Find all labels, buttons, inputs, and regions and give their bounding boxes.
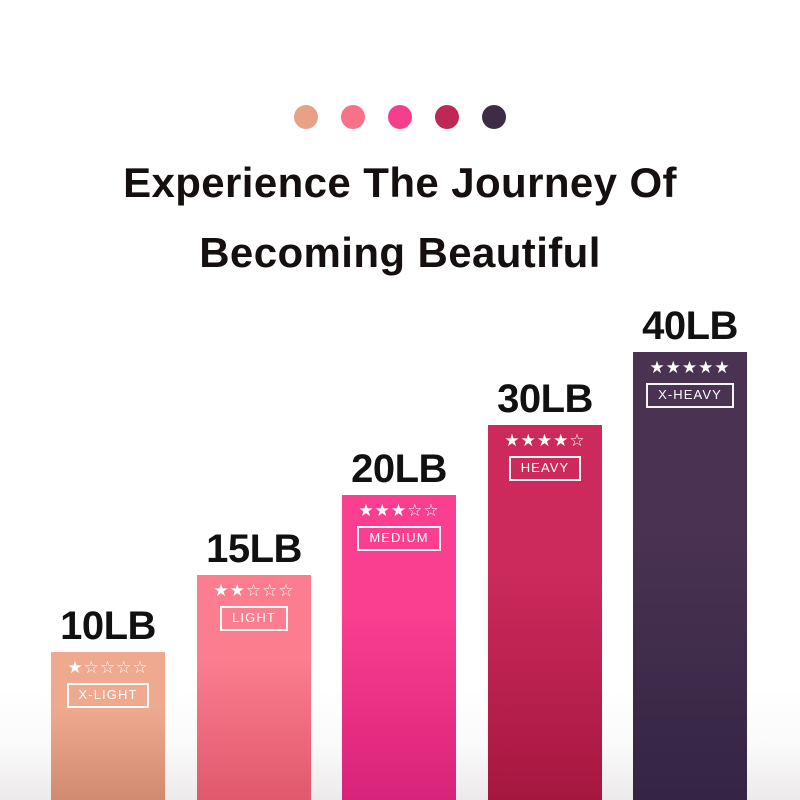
product-infographic-poster: Experience The Journey Of Becoming Beaut… bbox=[0, 0, 800, 800]
bar-weight-label-30lb: 30LB bbox=[488, 377, 602, 421]
bar-badge-20lb: ★★★☆☆ MEDIUM bbox=[342, 502, 456, 551]
bar-group-40lb: 40LB ★★★★★ X-HEAVY bbox=[633, 140, 747, 800]
bar-group-20lb: 20LB ★★★☆☆ MEDIUM bbox=[342, 140, 456, 800]
bar-40lb[interactable] bbox=[633, 352, 747, 800]
level-label-10lb: X-LIGHT bbox=[67, 683, 150, 708]
level-label-15lb: LIGHT bbox=[220, 606, 288, 631]
bar-weight-label-10lb: 10LB bbox=[51, 604, 165, 648]
star-rating-15lb: ★★☆☆☆ bbox=[213, 582, 294, 600]
bar-group-30lb: 30LB ★★★★☆ HEAVY bbox=[488, 140, 602, 800]
level-label-40lb: X-HEAVY bbox=[646, 383, 734, 408]
bar-group-10lb: 10LB ★☆☆☆☆ X-LIGHT bbox=[51, 140, 165, 800]
bar-badge-10lb: ★☆☆☆☆ X-LIGHT bbox=[51, 659, 165, 708]
star-rating-30lb: ★★★★☆ bbox=[504, 432, 585, 450]
star-rating-10lb: ★☆☆☆☆ bbox=[67, 659, 148, 677]
bar-badge-40lb: ★★★★★ X-HEAVY bbox=[633, 359, 747, 408]
bar-badge-30lb: ★★★★☆ HEAVY bbox=[488, 432, 602, 481]
star-rating-20lb: ★★★☆☆ bbox=[358, 502, 439, 520]
bar-weight-label-40lb: 40LB bbox=[633, 304, 747, 348]
bar-group-15lb: 15LB ★★☆☆☆ LIGHT bbox=[197, 140, 311, 800]
resistance-bar-chart: 10LB ★☆☆☆☆ X-LIGHT 15LB ★★☆☆☆ LIGHT 20LB… bbox=[0, 0, 800, 800]
bar-weight-label-15lb: 15LB bbox=[197, 527, 311, 571]
bar-weight-label-20lb: 20LB bbox=[342, 447, 456, 491]
level-label-20lb: MEDIUM bbox=[357, 526, 440, 551]
bar-30lb[interactable] bbox=[488, 425, 602, 800]
bar-badge-15lb: ★★☆☆☆ LIGHT bbox=[197, 582, 311, 631]
level-label-30lb: HEAVY bbox=[509, 456, 582, 481]
star-rating-40lb: ★★★★★ bbox=[649, 359, 730, 377]
